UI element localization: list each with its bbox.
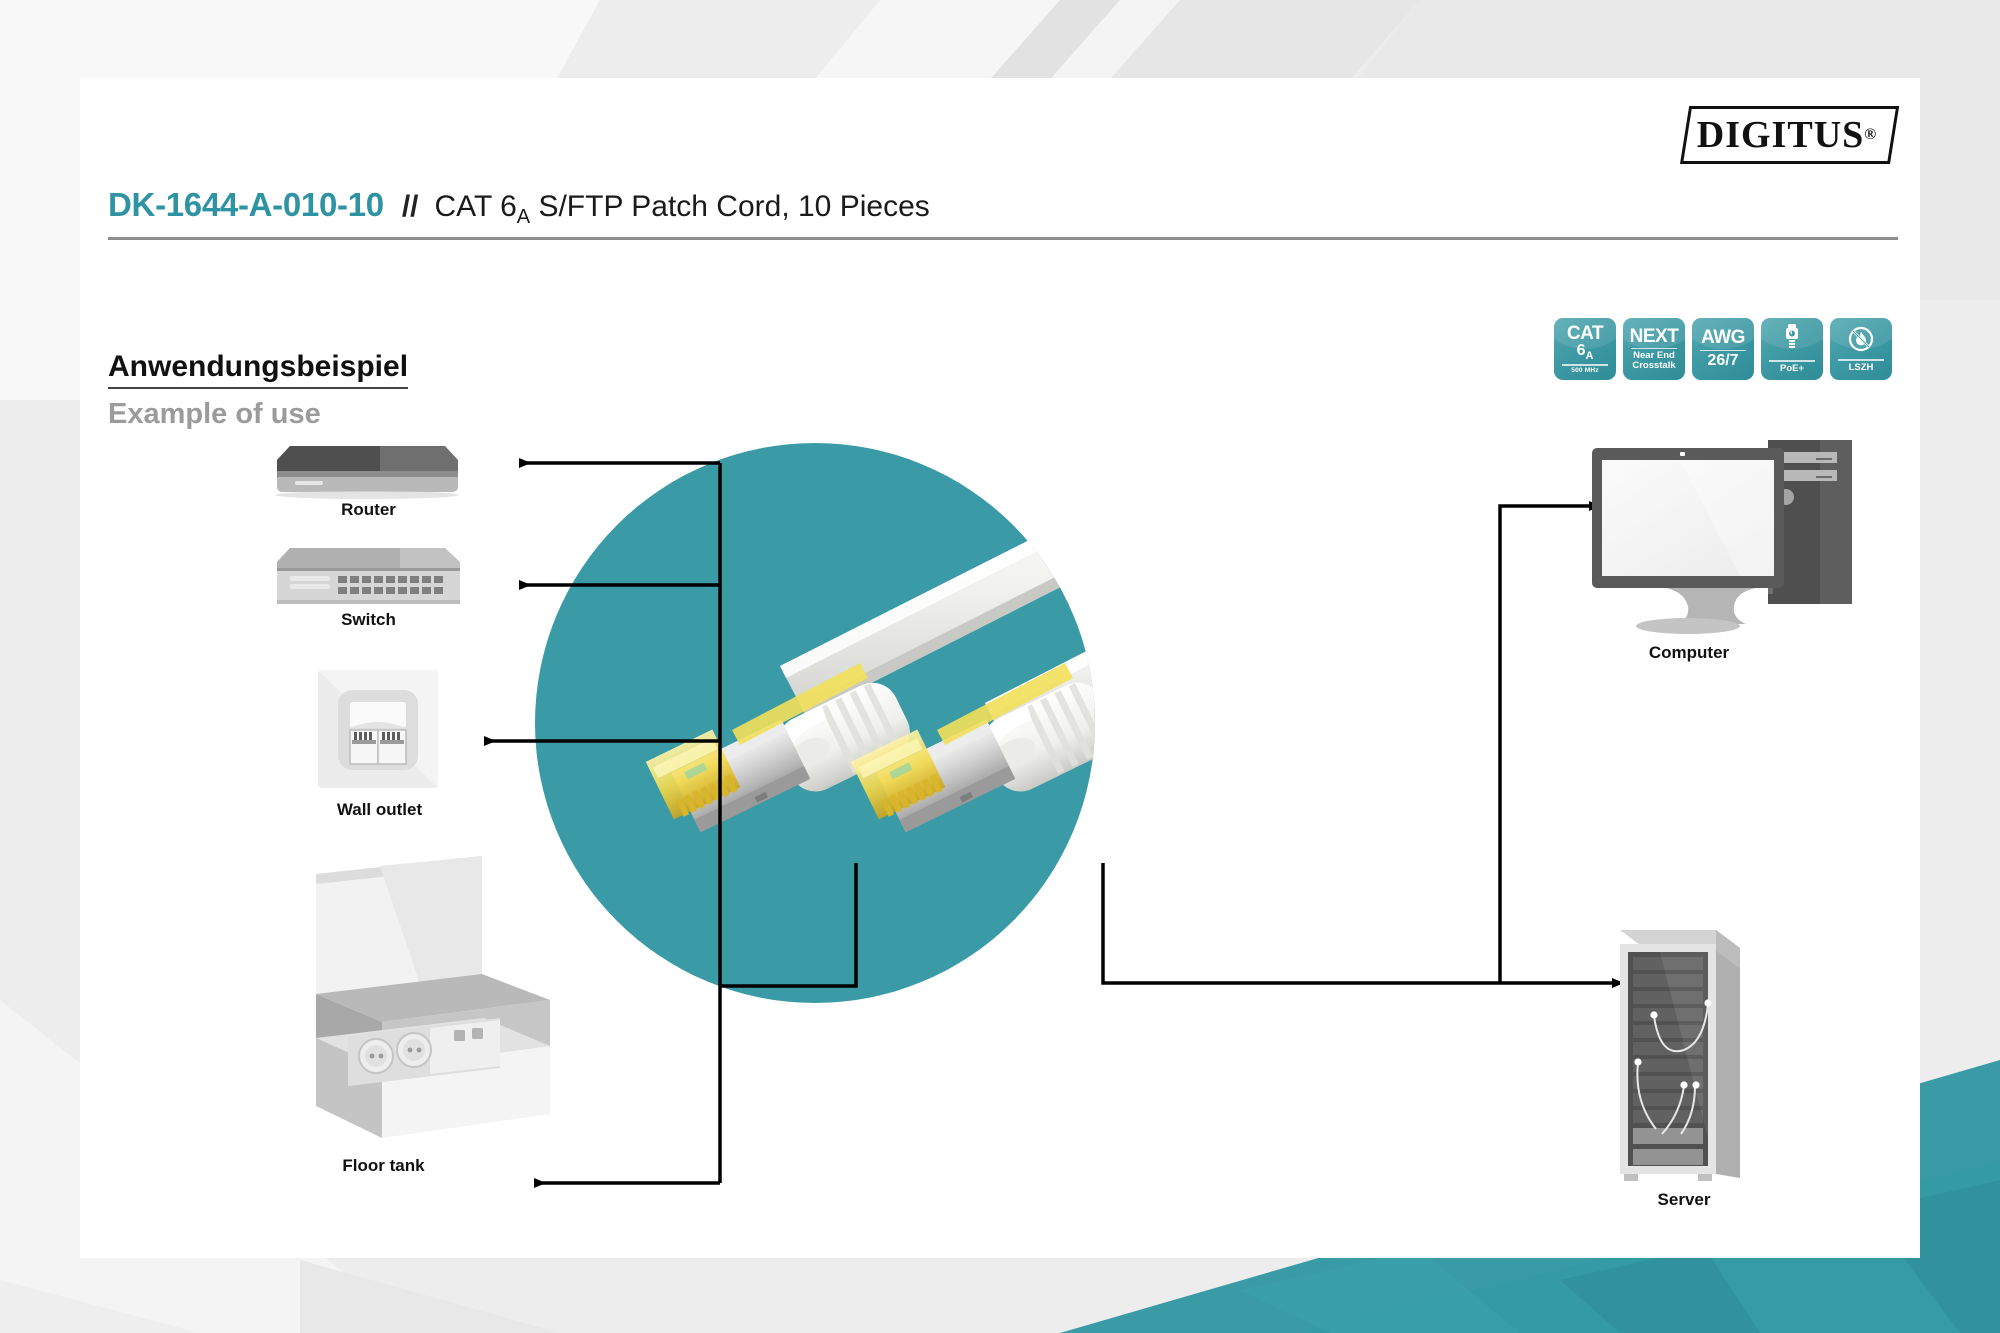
right-connector-lines xyxy=(1103,506,1613,983)
title-separator: // xyxy=(402,190,419,224)
product-description: CAT 6A S/FTP Patch Cord, 10 Pieces xyxy=(435,190,930,229)
page-card: DIGITUS® DK-1644-A-010-10 // CAT 6A S/FT… xyxy=(80,78,1920,1258)
feature-badges: CAT 6A 500 MHz NEXT Near End Crosstalk A… xyxy=(1554,318,1892,380)
device-switch xyxy=(277,548,460,604)
heading-english: Example of use xyxy=(108,398,408,431)
logo-text: DIGITUS® xyxy=(1680,106,1890,164)
logo-brand: DIGITUS xyxy=(1697,113,1865,157)
product-circle xyxy=(535,443,1226,1003)
cat6a-badge-rule xyxy=(1562,364,1608,366)
product-description-pre: CAT 6 xyxy=(435,190,517,223)
poe-badge: PoE+ xyxy=(1761,318,1823,380)
device-floor-tank xyxy=(316,856,550,1138)
logo-registered-mark: ® xyxy=(1864,126,1877,144)
lszh-badge-rule xyxy=(1838,359,1884,361)
no-flame-icon xyxy=(1847,325,1875,357)
product-description-subscript: A xyxy=(517,206,530,228)
lszh-badge-label: LSZH xyxy=(1849,363,1874,373)
cat6a-badge-sub: A xyxy=(1585,350,1593,362)
next-badge: NEXT Near End Crosstalk xyxy=(1623,318,1685,380)
rj45-plug-icon xyxy=(1782,324,1802,358)
cat6a-badge-line1: CAT xyxy=(1567,324,1603,343)
next-badge-line3: Crosstalk xyxy=(1632,361,1675,371)
lszh-badge: LSZH xyxy=(1830,318,1892,380)
section-headings: Anwendungsbeispiel Example of use xyxy=(108,350,408,431)
label-computer: Computer xyxy=(1593,643,1785,663)
device-computer xyxy=(1592,440,1852,634)
device-wall-outlet xyxy=(318,670,438,788)
next-badge-line1: NEXT xyxy=(1630,327,1679,346)
title-row: DK-1644-A-010-10 // CAT 6A S/FTP Patch C… xyxy=(108,186,1898,240)
product-description-post: S/FTP Patch Cord, 10 Pieces xyxy=(530,190,930,223)
awg-badge-line2: 26/7 xyxy=(1707,353,1738,369)
cat6a-badge: CAT 6A 500 MHz xyxy=(1554,318,1616,380)
label-floor-tank: Floor tank xyxy=(292,1156,475,1176)
application-diagram: Router Switch Wall outlet Floor tank Com… xyxy=(80,438,1920,1198)
poe-badge-label: PoE+ xyxy=(1780,364,1804,374)
awg-badge: AWG 26/7 xyxy=(1692,318,1754,380)
label-switch: Switch xyxy=(277,610,460,630)
poe-badge-rule xyxy=(1769,360,1815,362)
label-router: Router xyxy=(277,500,460,520)
label-server: Server xyxy=(1588,1190,1780,1210)
heading-german: Anwendungsbeispiel xyxy=(108,350,408,389)
device-server xyxy=(1620,930,1740,1181)
awg-badge-rule xyxy=(1700,350,1746,352)
cat6a-badge-line2: 6A xyxy=(1577,343,1594,362)
cat6a-badge-line3: 500 MHz xyxy=(1571,368,1598,375)
label-wall-outlet: Wall outlet xyxy=(288,800,471,820)
awg-badge-line1: AWG xyxy=(1701,328,1745,347)
title-divider xyxy=(108,237,1898,240)
device-router xyxy=(275,446,459,499)
next-badge-rule xyxy=(1631,348,1677,350)
digitus-logo: DIGITUS® xyxy=(1680,106,1890,164)
product-sku: DK-1644-A-010-10 xyxy=(108,186,384,224)
